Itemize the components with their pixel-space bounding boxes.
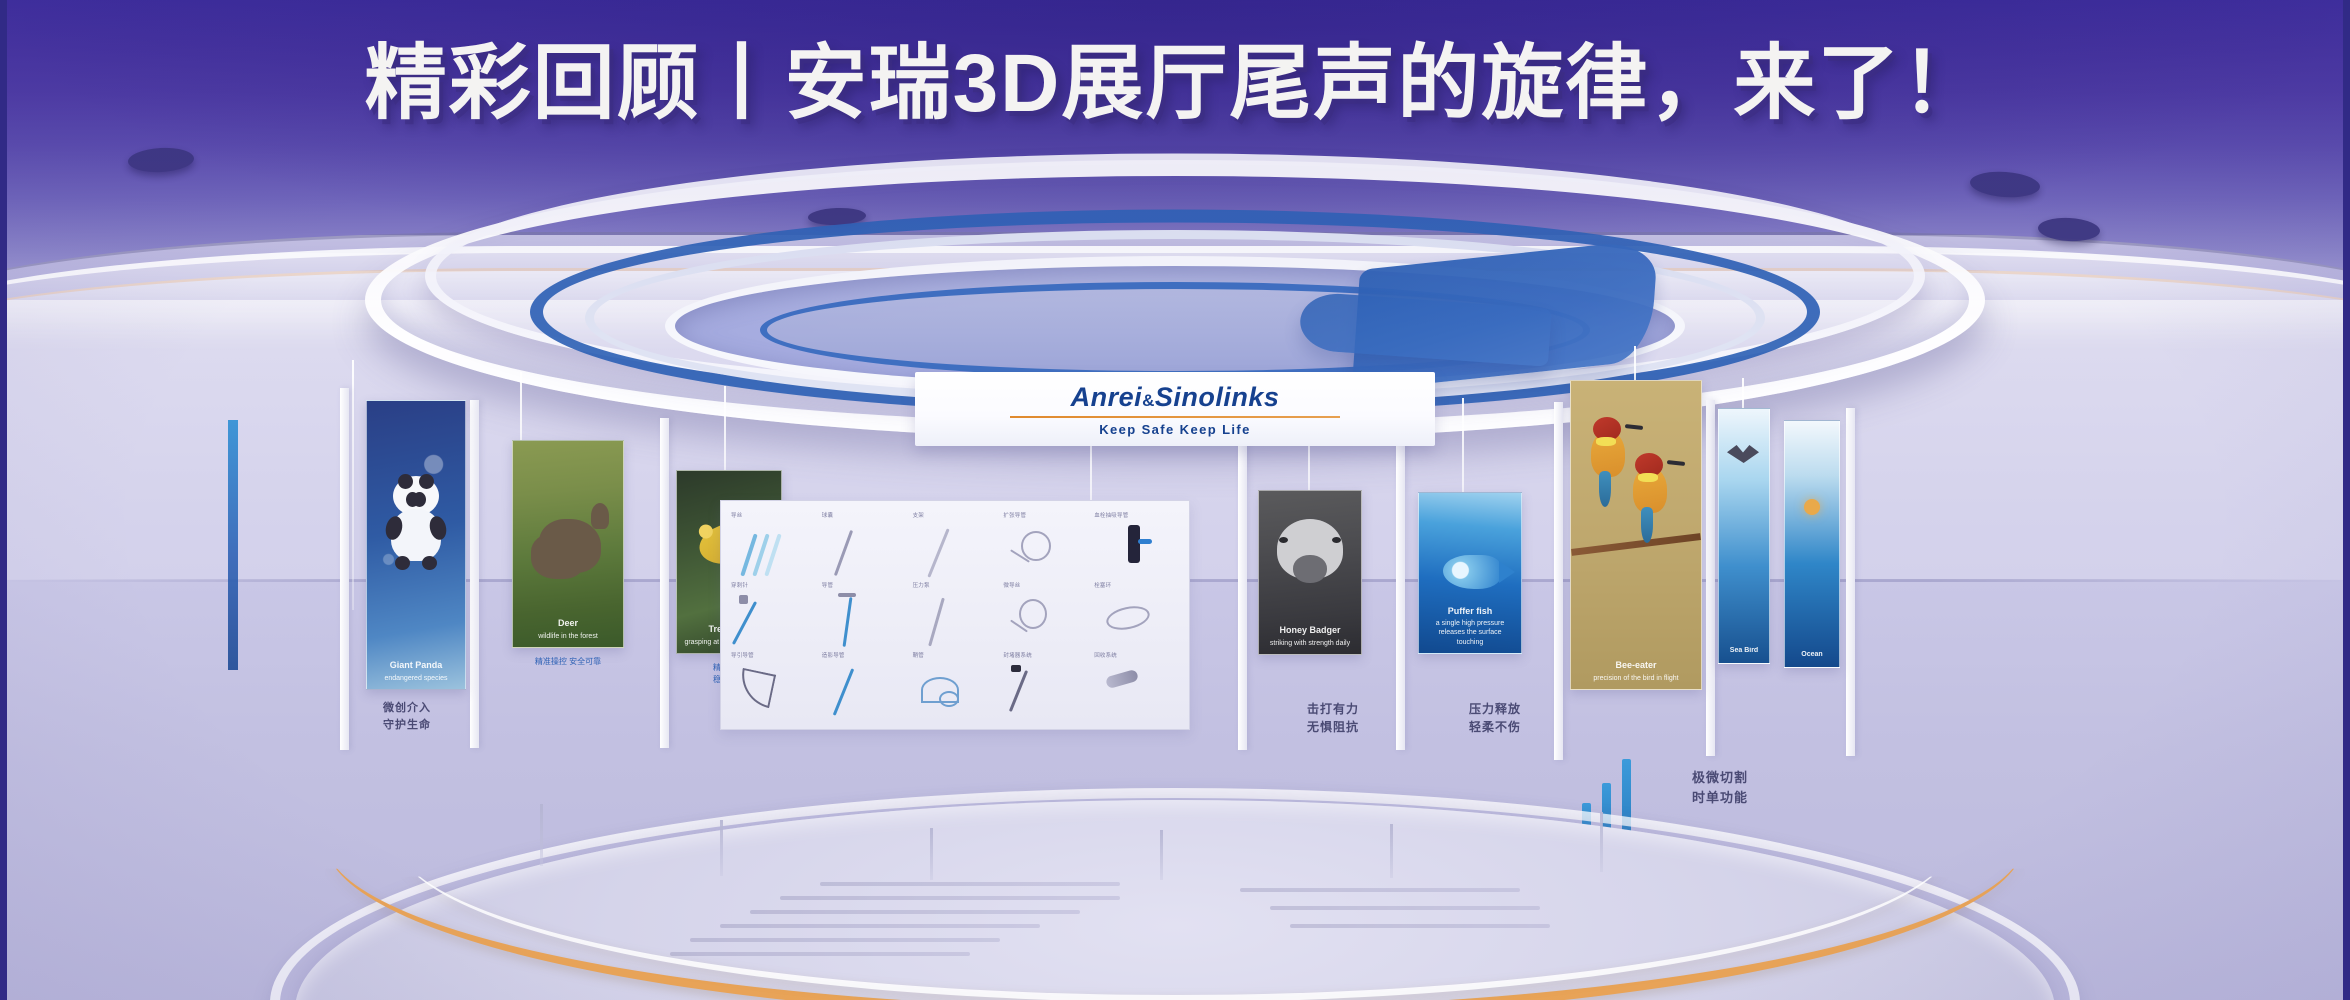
product-cell: 穿刺针 <box>729 581 818 649</box>
product-cell: 封堵器系统 <box>1001 651 1090 719</box>
wall-column <box>340 388 349 750</box>
left-purple-border <box>0 0 7 1000</box>
railing-post <box>720 820 723 876</box>
poster-title: Puffer fish <box>1425 605 1515 617</box>
railing-post <box>930 828 933 880</box>
wall-column <box>1238 430 1247 750</box>
poster-caption: Giant Panda endangered species <box>373 659 459 683</box>
poster-deer: Deer wildlife in the forest <box>512 440 624 648</box>
panel-caption-fish: 压力释放 轻柔不伤 <box>1440 700 1550 736</box>
seabird-icon <box>1727 445 1759 463</box>
poster-title: Bee-eater <box>1577 659 1695 671</box>
poster-subtitle: striking with strength daily <box>1270 640 1350 647</box>
poster-title: Honey Badger <box>1265 624 1355 636</box>
poster-wave: Sea Bird <box>1718 408 1770 664</box>
product-cell: 扩张导管 <box>1001 511 1090 579</box>
brand-ampersand: & <box>1142 391 1155 410</box>
product-cell: 导管 <box>820 581 909 649</box>
product-cell: 造影导管 <box>820 651 909 719</box>
poster-title: Deer <box>519 617 617 629</box>
poster-caption: Sea Bird <box>1725 646 1763 657</box>
railing-post <box>540 804 543 866</box>
poster-puffer-fish: Puffer fish a single high pressure relea… <box>1418 492 1522 654</box>
wall-column <box>470 400 479 748</box>
railing-post <box>1160 830 1163 880</box>
product-cell: 鞘管 <box>911 651 1000 719</box>
wall-column <box>1554 402 1563 760</box>
panel-caption-bird: 极微切割 时单功能 <box>1660 768 1780 807</box>
poster-caption: Bee-eater precision of the bird in fligh… <box>1577 659 1695 683</box>
poster-title: Ocean <box>1791 650 1833 659</box>
puffer-fish-icon <box>1443 555 1501 589</box>
product-cell: 微导丝 <box>1001 581 1090 649</box>
product-cell: 栓塞环 <box>1092 581 1181 649</box>
title-overlay: 精彩回顾丨安瑞3D展厅尾声的旋律，来了！ <box>0 0 2350 150</box>
poster-panda: Giant Panda endangered species <box>366 400 466 690</box>
bird-icon <box>1585 415 1631 507</box>
brand-banner: Anrei&Sinolinks Keep Safe Keep Life <box>915 372 1435 446</box>
railing-post <box>1390 824 1393 878</box>
panel-caption-badger: 击打有力 无惧阻抗 <box>1278 700 1388 736</box>
product-display-board: 导丝 球囊 支架 扩张导管 血栓抽吸导管 穿刺针 <box>720 500 1190 730</box>
wall-blue-accent-strip <box>228 420 238 670</box>
sun-icon <box>1804 499 1820 515</box>
brand-tagline: Keep Safe Keep Life <box>1099 422 1251 437</box>
product-cell: 导丝 <box>729 511 818 579</box>
bird-icon <box>1627 451 1673 543</box>
panda-icon <box>385 476 447 568</box>
wall-column <box>660 418 669 748</box>
panel-caption-panda: 微创介入 守护生命 <box>352 700 462 733</box>
brand-rule <box>1010 416 1340 418</box>
railing-post <box>1600 812 1603 872</box>
poster-caption: Puffer fish a single high pressure relea… <box>1425 605 1515 647</box>
product-cell: 压力泵 <box>911 581 1000 649</box>
product-cell: 支架 <box>911 511 1000 579</box>
wall-column <box>1396 430 1405 750</box>
right-purple-border <box>2343 0 2350 1000</box>
poster-subtitle: endangered species <box>384 675 447 682</box>
brand-name-primary: Anrei <box>1071 382 1143 412</box>
panel-caption-deer: 精准操控 安全可靠 <box>498 656 638 668</box>
poster-title: Giant Panda <box>373 659 459 671</box>
wall-column <box>1706 400 1715 756</box>
wall-column <box>1846 408 1855 756</box>
showroom-scene: Giant Panda endangered species 微创介入 守护生命… <box>0 0 2350 1000</box>
poster-subtitle: a single high pressure releases the surf… <box>1436 620 1505 646</box>
product-cell: 血栓抽吸导管 <box>1092 511 1181 579</box>
deer-icon <box>539 519 601 573</box>
product-cell: 球囊 <box>820 511 909 579</box>
poster-caption: Honey Badger striking with strength dail… <box>1265 624 1355 648</box>
poster-bee-eater: Bee-eater precision of the bird in fligh… <box>1570 380 1702 690</box>
poster-subtitle: wildlife in the forest <box>538 633 598 640</box>
poster-caption: Ocean <box>1791 650 1833 661</box>
poster-sea: Ocean <box>1784 420 1840 668</box>
banner-image: Giant Panda endangered species 微创介入 守护生命… <box>0 0 2350 1000</box>
hanging-rod-icon <box>352 360 354 610</box>
poster-title: Sea Bird <box>1725 646 1763 655</box>
banner-title: 精彩回顾丨安瑞3D展厅尾声的旋律，来了！ <box>365 16 1986 135</box>
product-cell: 导引导管 <box>729 651 818 719</box>
brand-logo-text: Anrei&Sinolinks <box>1071 382 1280 413</box>
poster-caption: Deer wildlife in the forest <box>519 617 617 641</box>
product-cell: 回收系统 <box>1092 651 1181 719</box>
brand-name-secondary: Sinolinks <box>1155 382 1280 412</box>
poster-honey-badger: Honey Badger striking with strength dail… <box>1258 490 1362 655</box>
poster-subtitle: precision of the bird in flight <box>1593 675 1678 682</box>
